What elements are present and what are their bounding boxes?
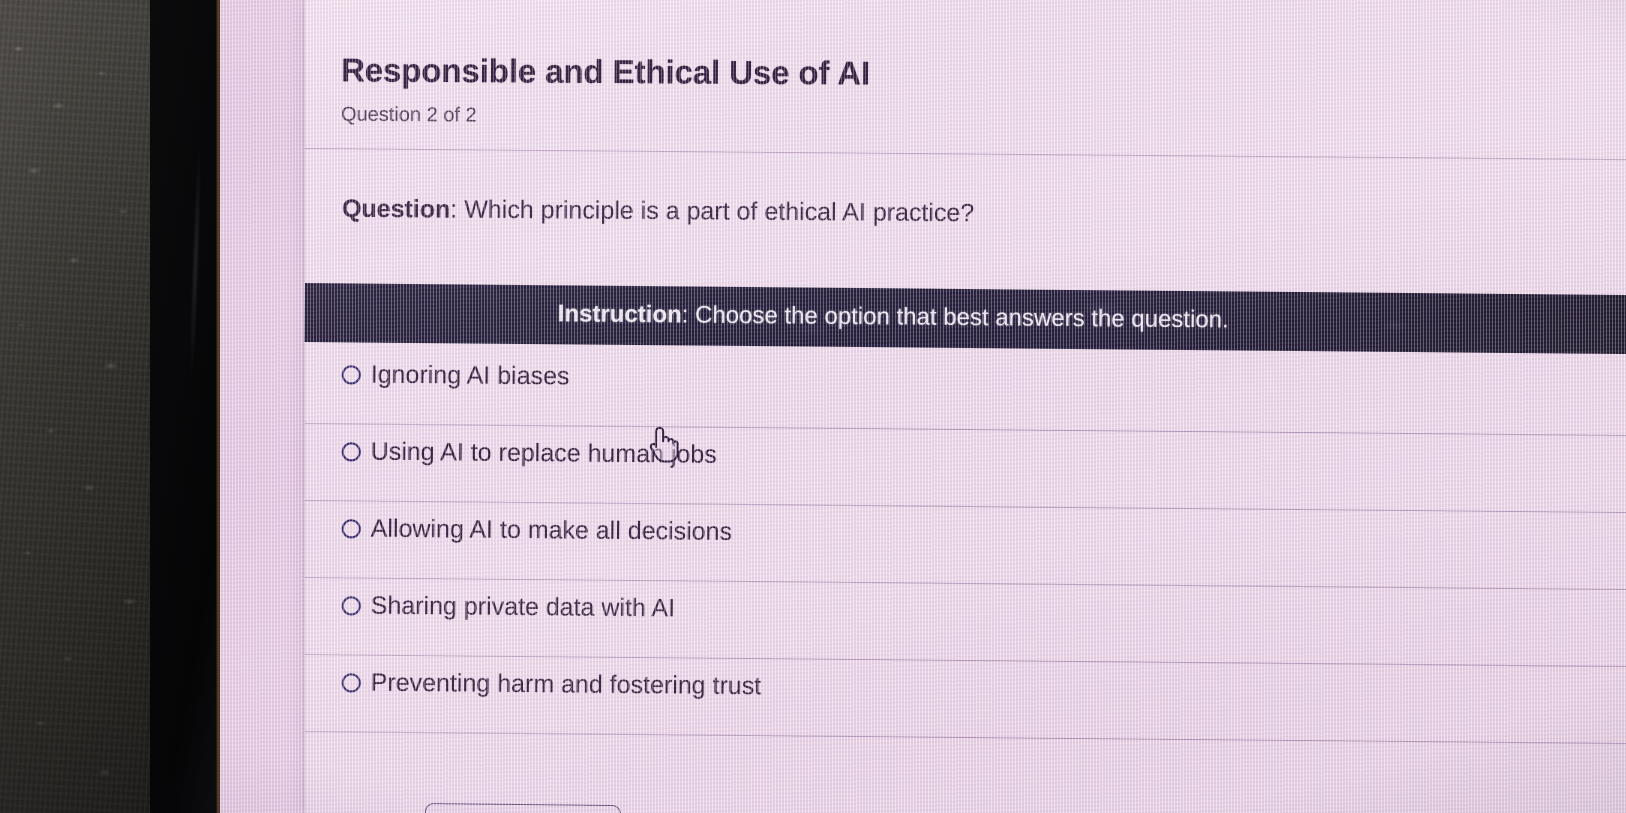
submit-button[interactable] <box>425 803 621 813</box>
monitor-photo: Responsible and Ethical Use of AI Questi… <box>0 0 1626 813</box>
answer-option-label: Using AI to replace human jobs <box>371 438 717 470</box>
radio-unchecked-icon[interactable] <box>342 673 361 692</box>
quiz-card: Responsible and Ethical Use of AI Questi… <box>305 0 1626 813</box>
instruction-text: Instruction: Choose the option that best… <box>558 300 1229 334</box>
instruction-bar: Instruction: Choose the option that best… <box>304 283 1626 354</box>
radio-unchecked-icon[interactable] <box>342 519 361 538</box>
answer-option-label: Sharing private data with AI <box>371 592 676 624</box>
answer-option-label: Ignoring AI biases <box>371 361 570 392</box>
monitor-screen: Responsible and Ethical Use of AI Questi… <box>220 0 1626 813</box>
wall-background <box>0 0 154 813</box>
radio-unchecked-icon[interactable] <box>342 596 361 615</box>
radio-unchecked-icon[interactable] <box>342 442 361 461</box>
monitor-bezel <box>150 0 220 813</box>
answer-option-3[interactable]: Allowing AI to make all decisions <box>304 500 1626 589</box>
answer-option-4[interactable]: Sharing private data with AI <box>304 577 1626 666</box>
answer-option-label: Preventing harm and fostering trust <box>371 669 762 702</box>
instruction-prefix-label: Instruction <box>558 300 682 328</box>
answer-option-5[interactable]: Preventing harm and fostering trust <box>304 654 1626 743</box>
answer-option-1[interactable]: Ignoring AI biases <box>304 346 1626 435</box>
answer-option-2[interactable]: Using AI to replace human jobs <box>304 423 1626 512</box>
answer-options-list[interactable]: Ignoring AI biasesUsing AI to replace hu… <box>305 0 1626 813</box>
instruction-body-text: Choose the option that best answers the … <box>695 302 1229 334</box>
answer-option-label: Allowing AI to make all decisions <box>371 515 733 547</box>
instruction-separator: : <box>682 301 696 328</box>
radio-unchecked-icon[interactable] <box>342 365 361 384</box>
